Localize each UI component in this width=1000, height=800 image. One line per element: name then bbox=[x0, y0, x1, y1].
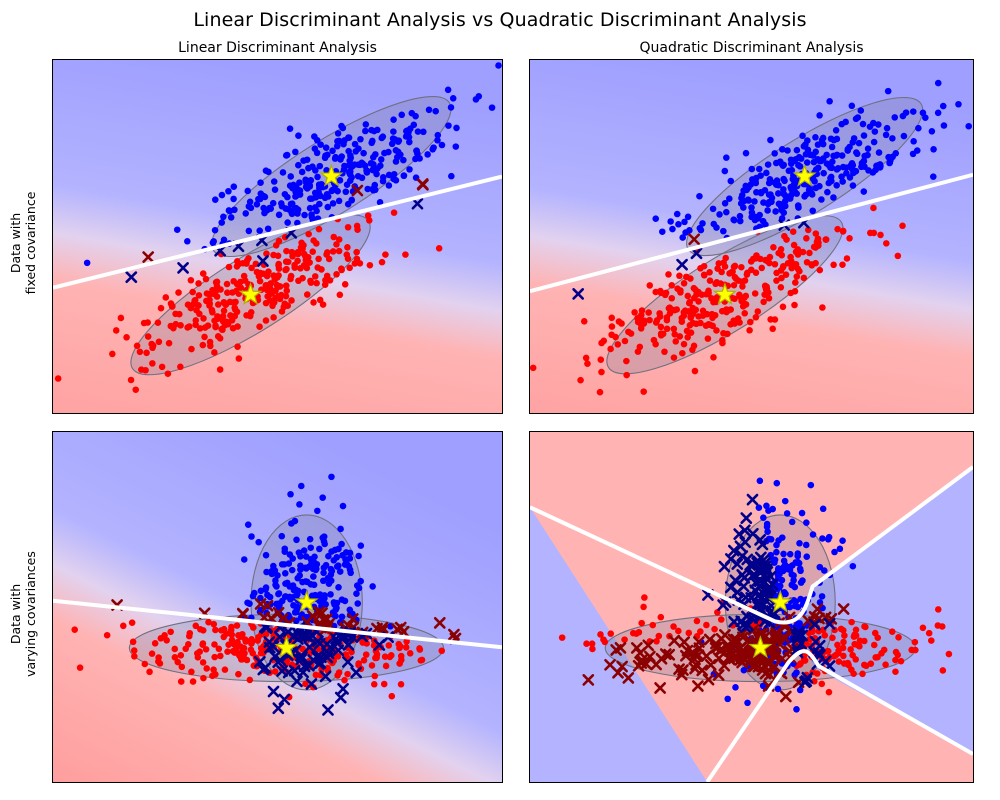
data-point bbox=[171, 646, 178, 653]
data-point bbox=[740, 187, 747, 194]
data-point bbox=[773, 277, 780, 284]
data-point bbox=[820, 141, 827, 148]
data-point bbox=[453, 125, 460, 132]
data-point bbox=[344, 251, 351, 258]
data-point bbox=[705, 321, 712, 328]
data-point bbox=[396, 660, 403, 667]
data-point bbox=[303, 257, 310, 264]
data-point bbox=[347, 152, 354, 159]
data-point bbox=[764, 207, 771, 214]
data-point bbox=[728, 178, 735, 185]
data-point bbox=[313, 672, 320, 679]
data-point bbox=[803, 519, 810, 526]
data-point bbox=[746, 327, 753, 334]
data-point bbox=[685, 308, 692, 315]
data-point bbox=[716, 211, 723, 218]
data-point bbox=[849, 139, 856, 146]
data-point bbox=[304, 265, 311, 272]
data-point bbox=[293, 537, 300, 544]
data-point bbox=[393, 177, 400, 184]
data-point bbox=[347, 171, 354, 178]
data-point bbox=[668, 295, 675, 302]
data-point bbox=[856, 140, 863, 147]
data-point bbox=[862, 624, 869, 631]
data-point bbox=[275, 262, 282, 269]
data-point bbox=[323, 144, 330, 151]
data-point bbox=[892, 657, 899, 664]
data-point bbox=[749, 166, 756, 173]
data-point bbox=[159, 364, 166, 371]
data-point bbox=[210, 666, 217, 673]
data-point bbox=[681, 341, 688, 348]
data-point bbox=[257, 270, 264, 277]
data-point bbox=[813, 166, 820, 173]
data-point bbox=[416, 645, 423, 652]
data-point bbox=[371, 673, 378, 680]
data-point bbox=[889, 153, 896, 160]
data-point bbox=[407, 650, 414, 657]
data-point bbox=[780, 304, 787, 311]
data-point bbox=[756, 166, 763, 173]
data-point bbox=[688, 329, 695, 336]
data-point bbox=[329, 148, 336, 155]
data-point bbox=[859, 671, 866, 678]
data-point bbox=[882, 661, 889, 668]
data-point bbox=[338, 541, 345, 548]
data-point bbox=[796, 540, 803, 547]
data-point bbox=[666, 305, 673, 312]
data-point bbox=[724, 331, 731, 338]
data-point bbox=[794, 553, 801, 560]
data-point bbox=[316, 226, 323, 233]
data-point bbox=[698, 227, 705, 234]
data-point bbox=[149, 360, 156, 367]
data-point bbox=[368, 127, 375, 134]
data-point bbox=[211, 654, 218, 661]
data-point bbox=[839, 261, 846, 268]
data-point bbox=[738, 200, 745, 207]
data-point bbox=[149, 650, 156, 657]
data-point bbox=[766, 180, 773, 187]
data-point bbox=[295, 132, 302, 139]
data-point bbox=[143, 350, 150, 357]
data-point bbox=[839, 537, 846, 544]
data-point bbox=[254, 637, 261, 644]
data-point bbox=[608, 331, 615, 338]
data-point bbox=[184, 238, 191, 245]
data-point bbox=[864, 152, 871, 159]
data-point bbox=[281, 561, 288, 568]
data-point bbox=[274, 572, 281, 579]
data-point bbox=[733, 275, 740, 282]
data-point bbox=[189, 289, 196, 296]
data-point bbox=[751, 198, 758, 205]
data-point bbox=[656, 310, 663, 317]
data-point bbox=[799, 510, 806, 517]
data-point bbox=[789, 582, 796, 589]
data-point bbox=[287, 491, 294, 498]
data-point bbox=[258, 588, 265, 595]
data-point bbox=[775, 537, 782, 544]
data-point bbox=[713, 224, 720, 231]
data-point bbox=[307, 205, 314, 212]
data-point bbox=[788, 192, 795, 199]
data-point bbox=[217, 366, 224, 373]
data-point bbox=[912, 639, 919, 646]
data-point bbox=[330, 248, 337, 255]
row-label-fixed-covariance: Data with fixed covariance bbox=[8, 153, 38, 333]
data-point bbox=[742, 277, 749, 284]
data-point bbox=[669, 226, 676, 233]
data-point bbox=[338, 123, 345, 130]
data-point bbox=[287, 125, 294, 132]
data-point bbox=[820, 505, 827, 512]
data-point bbox=[289, 567, 296, 574]
data-point bbox=[310, 573, 317, 580]
data-point bbox=[439, 142, 446, 149]
data-point bbox=[128, 377, 135, 384]
data-point bbox=[314, 264, 321, 271]
data-point bbox=[703, 291, 710, 298]
data-point bbox=[237, 279, 244, 286]
data-point bbox=[623, 358, 630, 365]
data-point bbox=[337, 177, 344, 184]
data-point bbox=[413, 147, 420, 154]
data-point bbox=[363, 121, 370, 128]
data-point bbox=[246, 203, 253, 210]
data-point bbox=[846, 235, 853, 242]
data-point bbox=[674, 211, 681, 218]
data-point bbox=[336, 248, 343, 255]
data-point bbox=[637, 344, 644, 351]
data-point bbox=[815, 156, 822, 163]
data-point bbox=[681, 280, 688, 287]
data-point bbox=[314, 137, 321, 144]
data-point bbox=[839, 152, 846, 159]
data-point bbox=[234, 263, 241, 270]
data-point bbox=[818, 196, 825, 203]
data-point bbox=[750, 256, 757, 263]
data-point bbox=[212, 627, 219, 634]
row-label-varying-line2: varying covariances bbox=[23, 524, 38, 704]
data-point bbox=[808, 190, 815, 197]
data-point bbox=[899, 222, 906, 229]
data-point bbox=[257, 196, 264, 203]
data-point bbox=[363, 651, 370, 658]
data-point bbox=[229, 631, 236, 638]
data-point bbox=[155, 658, 162, 665]
data-point bbox=[850, 182, 857, 189]
data-point bbox=[723, 306, 730, 313]
data-point bbox=[284, 580, 291, 587]
row-label-fixed-line1: Data with bbox=[8, 153, 23, 333]
data-point bbox=[368, 140, 375, 147]
data-point bbox=[803, 542, 810, 549]
data-point bbox=[763, 170, 770, 177]
data-point bbox=[935, 606, 942, 613]
data-point bbox=[530, 365, 536, 372]
data-point bbox=[328, 474, 335, 481]
data-point bbox=[762, 257, 769, 264]
data-point bbox=[885, 88, 892, 95]
data-point bbox=[289, 200, 296, 207]
data-point bbox=[346, 563, 353, 570]
data-point bbox=[186, 323, 193, 330]
data-point bbox=[861, 132, 868, 139]
data-point bbox=[226, 207, 233, 214]
data-point bbox=[577, 377, 584, 384]
data-point bbox=[280, 169, 287, 176]
data-point bbox=[330, 557, 337, 564]
data-point bbox=[204, 290, 211, 297]
data-point bbox=[155, 319, 162, 326]
data-point bbox=[167, 323, 174, 330]
data-point bbox=[338, 265, 345, 272]
data-point bbox=[861, 188, 868, 195]
data-point bbox=[225, 188, 232, 195]
data-point bbox=[848, 619, 855, 626]
data-point bbox=[188, 277, 195, 284]
data-point bbox=[664, 317, 671, 324]
data-point bbox=[743, 301, 750, 308]
data-point bbox=[723, 209, 730, 216]
data-point bbox=[448, 173, 455, 180]
data-point bbox=[270, 252, 277, 259]
data-point bbox=[134, 342, 141, 349]
data-point bbox=[738, 264, 745, 271]
data-point bbox=[760, 199, 767, 206]
data-point bbox=[819, 593, 826, 600]
data-point bbox=[336, 198, 343, 205]
data-point bbox=[646, 282, 653, 289]
data-point bbox=[367, 262, 374, 269]
data-point bbox=[788, 265, 795, 272]
data-point bbox=[217, 653, 224, 660]
data-point bbox=[787, 551, 794, 558]
data-point bbox=[675, 221, 682, 228]
data-point bbox=[265, 169, 272, 176]
data-point bbox=[730, 216, 737, 223]
data-point bbox=[211, 349, 218, 356]
data-point bbox=[695, 313, 702, 320]
data-point bbox=[308, 211, 315, 218]
data-point bbox=[445, 87, 452, 94]
data-point bbox=[327, 277, 334, 284]
data-point bbox=[803, 235, 810, 242]
data-point bbox=[371, 681, 378, 688]
data-point bbox=[779, 577, 786, 584]
data-point bbox=[354, 223, 361, 230]
data-point bbox=[163, 294, 170, 301]
data-point bbox=[685, 630, 692, 637]
data-point bbox=[710, 298, 717, 305]
data-point bbox=[758, 190, 765, 197]
data-point bbox=[248, 309, 255, 316]
data-point bbox=[928, 637, 935, 644]
data-point bbox=[747, 319, 754, 326]
data-point bbox=[653, 638, 660, 645]
data-point bbox=[724, 696, 731, 703]
data-point bbox=[736, 291, 743, 298]
data-point bbox=[778, 284, 785, 291]
data-point bbox=[608, 315, 615, 322]
data-point bbox=[778, 203, 785, 210]
data-point bbox=[847, 162, 854, 169]
scatter-plot-qda-varying bbox=[530, 432, 973, 782]
data-point bbox=[251, 590, 258, 597]
data-point bbox=[719, 340, 726, 347]
data-point bbox=[616, 318, 623, 325]
data-point bbox=[764, 528, 771, 535]
data-point bbox=[365, 212, 372, 219]
data-point bbox=[344, 244, 351, 251]
data-point bbox=[395, 641, 402, 648]
data-point bbox=[188, 669, 195, 676]
data-point bbox=[745, 196, 752, 203]
data-point bbox=[926, 630, 933, 637]
data-point bbox=[609, 323, 616, 330]
data-point bbox=[732, 684, 739, 691]
data-point bbox=[775, 250, 782, 257]
data-point bbox=[130, 639, 137, 646]
data-point bbox=[697, 320, 704, 327]
data-point bbox=[884, 125, 891, 132]
data-point bbox=[637, 318, 644, 325]
data-point bbox=[174, 226, 181, 233]
data-point bbox=[628, 330, 635, 337]
data-point bbox=[364, 186, 371, 193]
data-point bbox=[374, 651, 381, 658]
data-point bbox=[370, 154, 377, 161]
data-point bbox=[623, 372, 630, 379]
data-point bbox=[855, 114, 862, 121]
data-point bbox=[726, 195, 733, 202]
data-point bbox=[681, 219, 688, 226]
data-point bbox=[240, 260, 247, 267]
data-point bbox=[235, 671, 242, 678]
data-point bbox=[343, 188, 350, 195]
data-point bbox=[772, 179, 779, 186]
plot-panel-qda-varying-covariances bbox=[529, 431, 974, 783]
data-point bbox=[296, 501, 303, 508]
data-point bbox=[386, 182, 393, 189]
data-point bbox=[615, 341, 622, 348]
data-point bbox=[200, 270, 207, 277]
data-point bbox=[371, 182, 378, 189]
data-point bbox=[791, 302, 798, 309]
data-point bbox=[200, 659, 207, 666]
data-point bbox=[781, 233, 788, 240]
data-point bbox=[364, 169, 371, 176]
data-point bbox=[338, 153, 345, 160]
data-point bbox=[257, 179, 264, 186]
data-point bbox=[221, 307, 228, 314]
data-point bbox=[720, 259, 727, 266]
data-point bbox=[891, 114, 898, 121]
data-point bbox=[245, 521, 252, 528]
data-point bbox=[861, 163, 868, 170]
data-point bbox=[792, 279, 799, 286]
data-point bbox=[739, 283, 746, 290]
data-point bbox=[640, 388, 647, 395]
data-point bbox=[188, 346, 195, 353]
data-point bbox=[305, 231, 312, 238]
data-point bbox=[870, 205, 877, 212]
data-point bbox=[877, 163, 884, 170]
data-point bbox=[819, 304, 826, 311]
data-point bbox=[787, 290, 794, 297]
data-point bbox=[299, 169, 306, 176]
data-point bbox=[346, 134, 353, 141]
data-point bbox=[672, 338, 679, 345]
data-point bbox=[354, 256, 361, 263]
data-point bbox=[231, 305, 238, 312]
data-point bbox=[776, 568, 783, 575]
data-point bbox=[390, 128, 397, 135]
data-point bbox=[304, 291, 311, 298]
data-point bbox=[146, 669, 153, 676]
data-point bbox=[71, 626, 78, 633]
data-point bbox=[291, 264, 298, 271]
data-point bbox=[188, 305, 195, 312]
data-point bbox=[760, 514, 767, 521]
data-point bbox=[809, 207, 816, 214]
data-point bbox=[858, 107, 865, 114]
data-point bbox=[393, 158, 400, 165]
data-point bbox=[589, 640, 596, 647]
data-point bbox=[104, 632, 111, 639]
data-point bbox=[791, 181, 798, 188]
data-point bbox=[362, 128, 369, 135]
data-point bbox=[895, 253, 902, 260]
data-point bbox=[910, 151, 917, 158]
data-point bbox=[227, 299, 234, 306]
data-point bbox=[340, 503, 347, 510]
data-point bbox=[748, 267, 755, 274]
data-point bbox=[234, 343, 241, 350]
data-point bbox=[660, 331, 667, 338]
data-point bbox=[789, 519, 796, 526]
data-point bbox=[261, 210, 268, 217]
data-point bbox=[910, 108, 917, 115]
data-point bbox=[322, 154, 329, 161]
data-point bbox=[825, 162, 832, 169]
data-point bbox=[265, 225, 272, 232]
data-point bbox=[621, 636, 628, 643]
data-point bbox=[273, 583, 280, 590]
data-point bbox=[774, 480, 781, 487]
data-point bbox=[903, 109, 910, 116]
data-point bbox=[269, 303, 276, 310]
data-point bbox=[877, 232, 884, 239]
data-point bbox=[309, 248, 316, 255]
data-point bbox=[360, 150, 367, 157]
data-point bbox=[773, 270, 780, 277]
data-point bbox=[218, 326, 225, 333]
data-point bbox=[829, 635, 836, 642]
data-point bbox=[770, 244, 777, 251]
data-point bbox=[292, 149, 299, 156]
data-point bbox=[397, 151, 404, 158]
data-point bbox=[335, 584, 342, 591]
data-point bbox=[406, 134, 413, 141]
data-point bbox=[845, 662, 852, 669]
data-point bbox=[825, 180, 832, 187]
data-point bbox=[113, 327, 120, 334]
data-point bbox=[476, 93, 483, 100]
data-point bbox=[668, 282, 675, 289]
data-point bbox=[773, 549, 780, 556]
